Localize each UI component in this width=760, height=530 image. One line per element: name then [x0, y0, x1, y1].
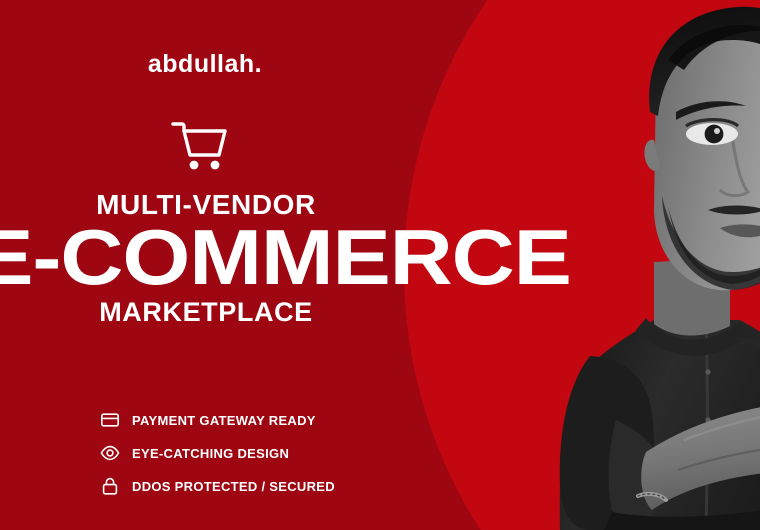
headline-block: MULTI-VENDOR E-COMMERCE MARKETPLACE — [0, 190, 412, 326]
shopping-cart-icon — [170, 118, 230, 172]
feature-list: PAYMENT GATEWAY READY EYE-CATCHING DESIG… — [100, 410, 335, 496]
feature-item: DDOS PROTECTED / SECURED — [100, 476, 335, 496]
credit-card-icon — [100, 410, 120, 430]
lock-icon — [100, 476, 120, 496]
eye-icon — [100, 443, 120, 463]
headline-main-line: E-COMMERCE — [0, 222, 437, 294]
headline-bottom-line: MARKETPLACE — [0, 298, 412, 326]
brand-logo: abdullah. — [0, 52, 410, 77]
feature-label: EYE-CATCHING DESIGN — [132, 447, 289, 460]
promo-banner: abdullah. MULTI-VENDOR E-COMMERCE MARKET… — [0, 0, 760, 530]
feature-label: DDOS PROTECTED / SECURED — [132, 480, 335, 493]
feature-label: PAYMENT GATEWAY READY — [132, 414, 316, 427]
feature-item: EYE-CATCHING DESIGN — [100, 443, 335, 463]
feature-item: PAYMENT GATEWAY READY — [100, 410, 335, 430]
